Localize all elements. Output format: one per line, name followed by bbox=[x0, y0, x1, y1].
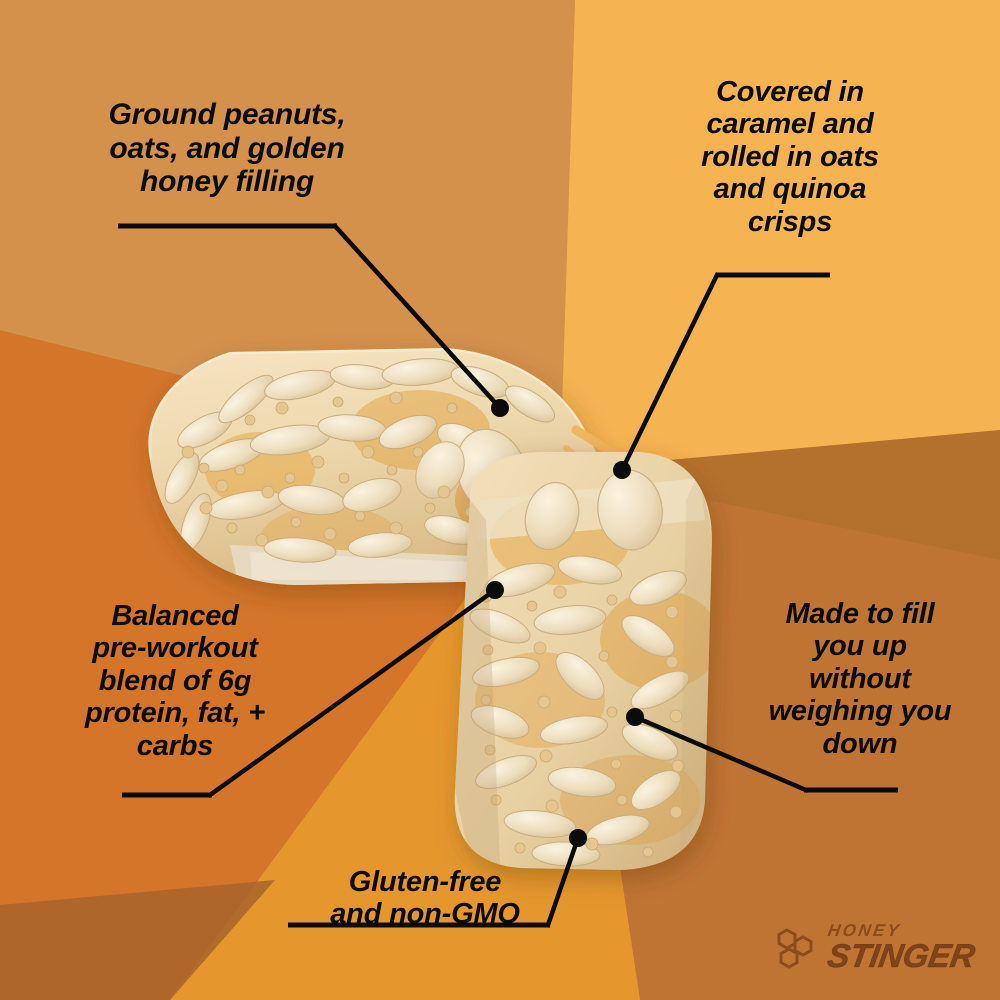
callout-line: and non-GMO bbox=[290, 898, 560, 930]
callout-line: you up bbox=[730, 630, 990, 662]
callout-line: weighing you bbox=[730, 695, 990, 727]
callout-ground-peanuts: Ground peanuts, oats, and golden honey f… bbox=[62, 98, 392, 199]
callout-line: Made to fill bbox=[730, 598, 990, 630]
logo-stinger-text: STINGER bbox=[825, 939, 977, 972]
callout-covered-caramel: Covered in caramel and rolled in oats an… bbox=[640, 76, 940, 238]
callout-line: carbs bbox=[40, 730, 310, 762]
callout-line: blend of 6g bbox=[40, 665, 310, 697]
callout-line: protein, fat, + bbox=[40, 697, 310, 729]
callout-gluten-free: Gluten-free and non-GMO bbox=[290, 866, 560, 931]
callout-line: down bbox=[730, 728, 990, 760]
callout-line: caramel and bbox=[640, 108, 940, 140]
callout-line: oats, and golden bbox=[62, 132, 392, 166]
callout-line: and quinoa bbox=[640, 173, 940, 205]
infographic-canvas: Ground peanuts, oats, and golden honey f… bbox=[0, 0, 1000, 1000]
callout-line: Ground peanuts, bbox=[62, 98, 392, 132]
logo-wordmark: HONEY STINGER bbox=[828, 922, 975, 972]
callout-line: Gluten-free bbox=[290, 866, 560, 898]
callout-line: without bbox=[730, 663, 990, 695]
honeycomb-icon bbox=[776, 925, 820, 969]
callout-line: crisps bbox=[640, 206, 940, 238]
callout-line: rolled in oats bbox=[640, 141, 940, 173]
callout-line: pre-workout bbox=[40, 632, 310, 664]
callout-line: Covered in bbox=[640, 76, 940, 108]
callout-balanced-blend: Balanced pre-workout blend of 6g protein… bbox=[40, 600, 310, 762]
callout-made-to-fill: Made to fill you up without weighing you… bbox=[730, 598, 990, 760]
brand-logo: HONEY STINGER bbox=[776, 916, 976, 978]
callout-line: Balanced bbox=[40, 600, 310, 632]
callout-line: honey filling bbox=[62, 165, 392, 199]
